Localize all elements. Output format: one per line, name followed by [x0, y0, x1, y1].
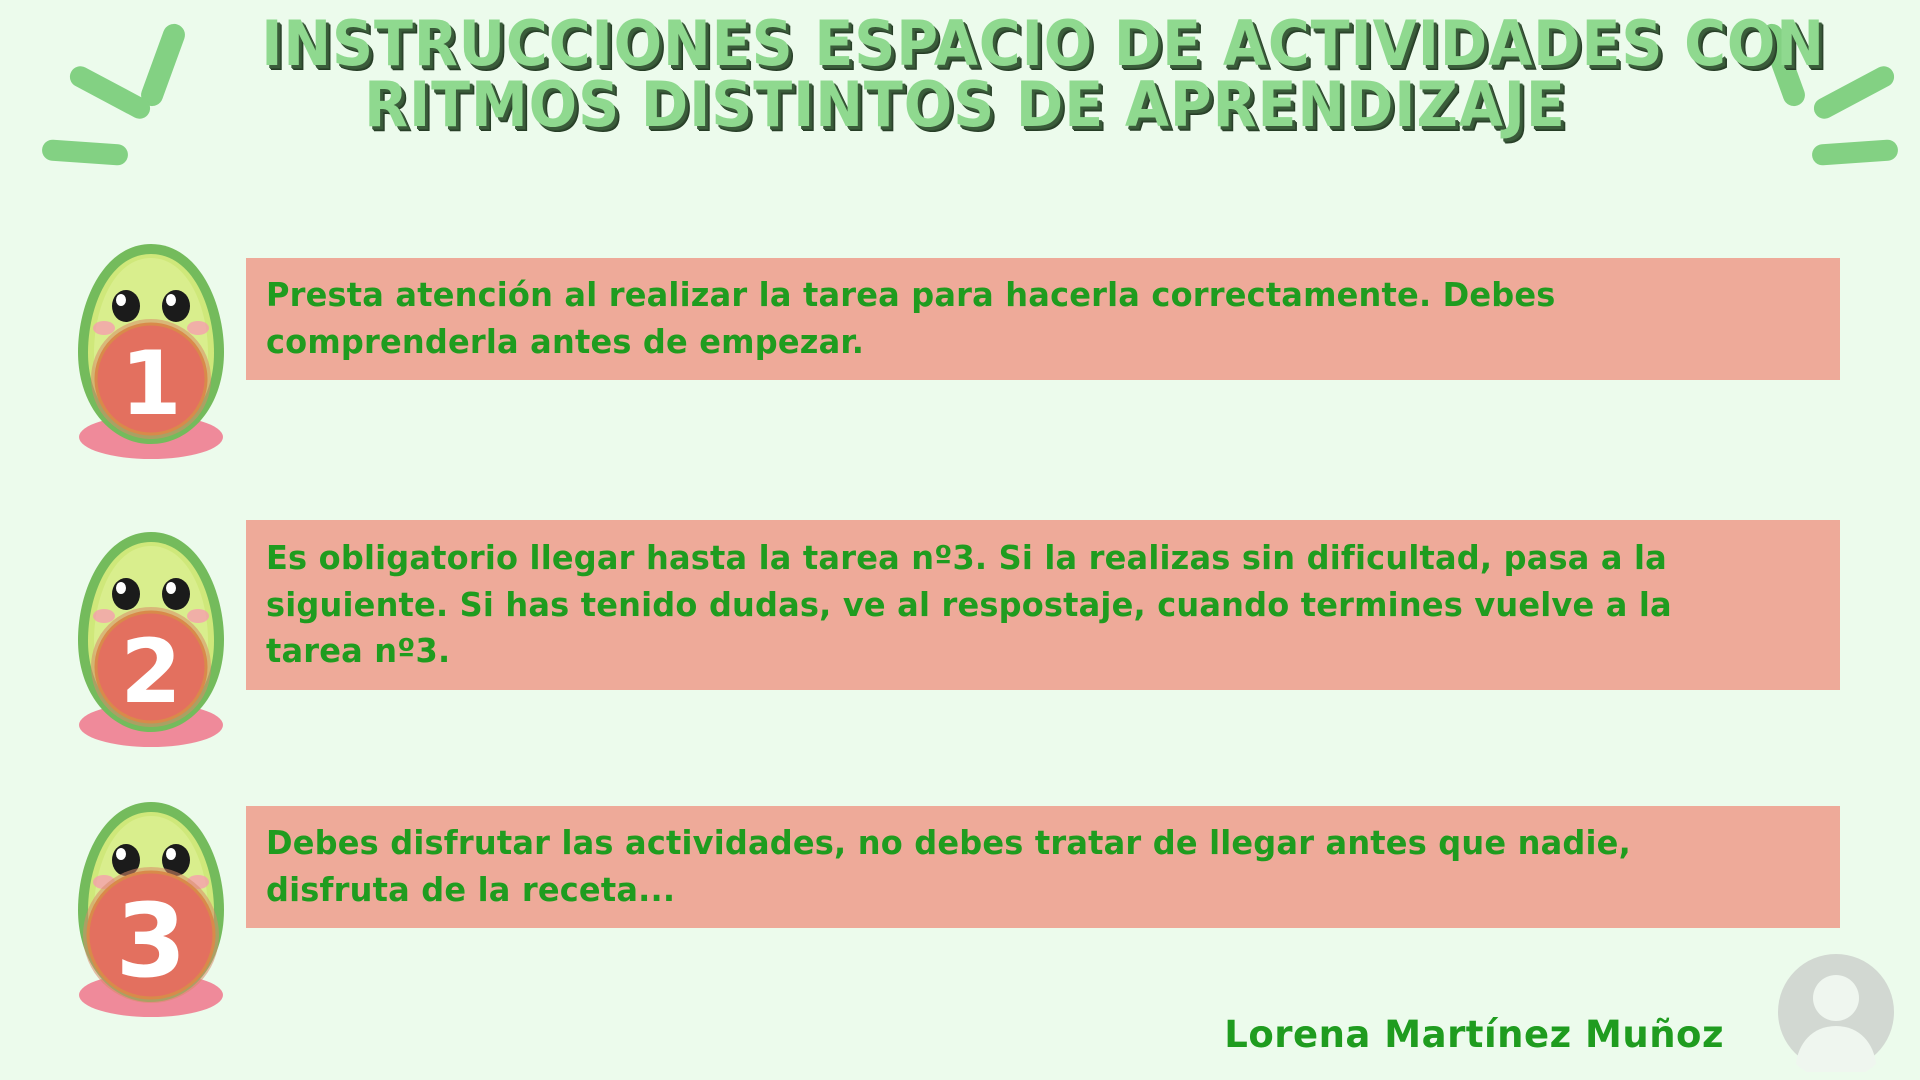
instruction-text-2: Es obligatorio llegar hasta la tarea nº3… — [266, 535, 1771, 676]
user-avatar-icon — [1776, 952, 1896, 1072]
avocado-character-3: 3 — [56, 790, 246, 1020]
dash-icon — [41, 139, 128, 166]
avocado-character-1: 1 — [56, 232, 246, 462]
avocado-number: 1 — [120, 332, 181, 435]
avocado-number: 2 — [120, 620, 181, 723]
instruction-text-1: Presta atención al realizar la tarea par… — [266, 272, 1771, 366]
page-title-line-1: INSTRUCCIONES ESPACIO DE ACTIVIDADES CON — [261, 14, 1669, 75]
avocado-icon: 2 — [56, 520, 246, 750]
page-title-line-2: RITMOS DISTINTOS DE APRENDIZAJE — [261, 75, 1669, 136]
instruction-textbox-3: Debes disfrutar las actividades, no debe… — [246, 806, 1840, 928]
avocado-icon: 3 — [56, 790, 246, 1020]
avocado-icon: 1 — [56, 232, 246, 462]
dash-icon — [1811, 139, 1898, 166]
instruction-textbox-2: Es obligatorio llegar hasta la tarea nº3… — [246, 520, 1840, 690]
instruction-textbox-1: Presta atención al realizar la tarea par… — [246, 258, 1840, 380]
page-title: INSTRUCCIONES ESPACIO DE ACTIVIDADES CON… — [261, 14, 1669, 136]
header-band: INSTRUCCIONES ESPACIO DE ACTIVIDADES CON… — [0, 0, 1920, 200]
avocado-character-2: 2 — [56, 520, 246, 750]
dash-icon — [138, 21, 188, 109]
instruction-text-3: Debes disfrutar las actividades, no debe… — [266, 820, 1771, 914]
avocado-number: 3 — [116, 882, 187, 1001]
author-name: Lorena Martínez Muñoz — [1224, 1013, 1724, 1056]
